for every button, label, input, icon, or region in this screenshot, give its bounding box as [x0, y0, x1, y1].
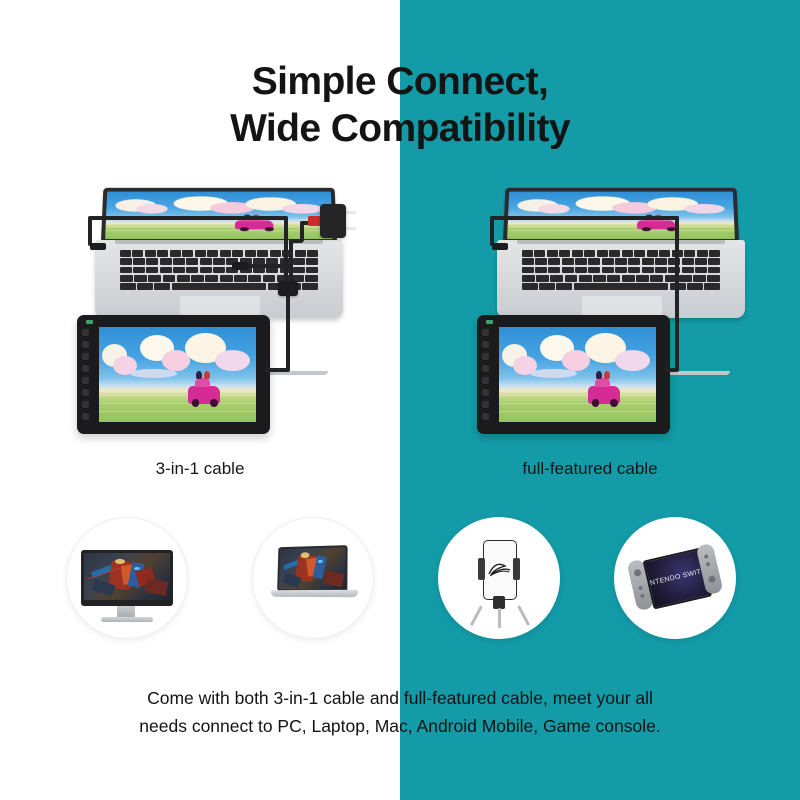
tablet-power-led-right	[486, 320, 493, 324]
scribble-icon	[488, 561, 512, 577]
headline-line-2: Wide Compatibility	[0, 105, 800, 152]
cable-usb-horizontal	[246, 264, 292, 268]
tablet-screen-left	[99, 327, 256, 422]
device-circle-pc-monitor[interactable]	[66, 517, 188, 639]
monitor-base	[101, 617, 153, 622]
device-circle-android-phone[interactable]	[438, 517, 560, 639]
pen-display-right: ·····	[477, 315, 670, 434]
switch-console: NINTENDO SWITCH	[627, 543, 724, 612]
cable-hdmi-vertical	[88, 218, 92, 246]
caption-right: full-featured cable	[440, 459, 740, 479]
cable-junction	[278, 281, 298, 296]
tablet-express-keys-right	[482, 329, 489, 420]
cable-right-top	[490, 216, 679, 220]
cable-right-left-leg	[490, 218, 494, 246]
pen-display-left: ·····	[77, 315, 270, 434]
device-circle-game-console[interactable]: NINTENDO SWITCH	[614, 517, 736, 639]
tripod-leg-left	[470, 605, 483, 626]
tripod-leg-right	[517, 605, 530, 626]
cable-to-tablet-left	[286, 294, 290, 370]
laptop-trackpad-right	[581, 295, 662, 317]
phone-clamp-right	[513, 558, 520, 580]
hdmi-connector	[90, 243, 106, 250]
tablet-artwork-landscape	[99, 327, 256, 422]
headline-line-1: Simple Connect,	[252, 60, 549, 103]
smartphone	[483, 540, 517, 600]
cable-power-vertical	[300, 222, 304, 242]
phone-clamp-left	[478, 558, 485, 580]
tablet-artwork-landscape-right	[499, 327, 656, 422]
adapter-prong-top	[345, 211, 356, 214]
tablet-express-keys-left	[82, 329, 89, 420]
usb-c-connector	[492, 243, 508, 250]
product-feature-banner: Simple Connect, Wide Compatibility	[0, 0, 800, 800]
monitor-body	[81, 550, 173, 606]
tablet-power-led-left	[86, 320, 93, 324]
cable-hdmi-top	[88, 216, 288, 220]
laptop-base-left	[95, 240, 343, 318]
circle-laptop-base	[271, 590, 358, 597]
bottom-caption-line-2: needs connect to PC, Laptop, Mac, Androi…	[139, 716, 660, 736]
page-title: Simple Connect, Wide Compatibility	[0, 58, 800, 152]
tripod-leg-center	[498, 608, 501, 628]
cable-usb-down	[289, 240, 293, 284]
device-circle-laptop[interactable]	[252, 517, 374, 639]
laptop-right	[503, 186, 739, 322]
cable-tablet-entry-right	[664, 368, 679, 372]
laptop-base-right	[497, 240, 745, 318]
laptop-hinge-right	[517, 240, 725, 244]
laptop-trackpad-left	[179, 295, 260, 317]
phone-screen-scribble	[488, 561, 512, 577]
bottom-caption-line-1: Come with both 3-in-1 cable and full-fea…	[147, 688, 653, 708]
caption-left: 3-in-1 cable	[60, 459, 340, 479]
cable-tablet-entry-left	[266, 368, 290, 372]
tablet-screen-right	[499, 327, 656, 422]
circle-laptop-lid	[277, 545, 347, 593]
power-adapter	[320, 204, 346, 238]
laptop-keyboard-right	[522, 250, 720, 290]
laptop-lid-right	[503, 188, 739, 242]
adapter-prong-bottom	[345, 227, 356, 230]
usb-connector	[232, 262, 249, 270]
monitor-screen	[84, 553, 170, 600]
laptop-left	[101, 186, 337, 322]
circle-laptop-screen	[279, 547, 346, 591]
mecha-artwork-laptop	[279, 547, 346, 591]
bottom-caption: Come with both 3-in-1 cable and full-fea…	[60, 684, 740, 740]
mecha-artwork	[84, 553, 170, 600]
cable-hdmi-down	[284, 216, 288, 282]
cable-right-down	[675, 216, 679, 370]
